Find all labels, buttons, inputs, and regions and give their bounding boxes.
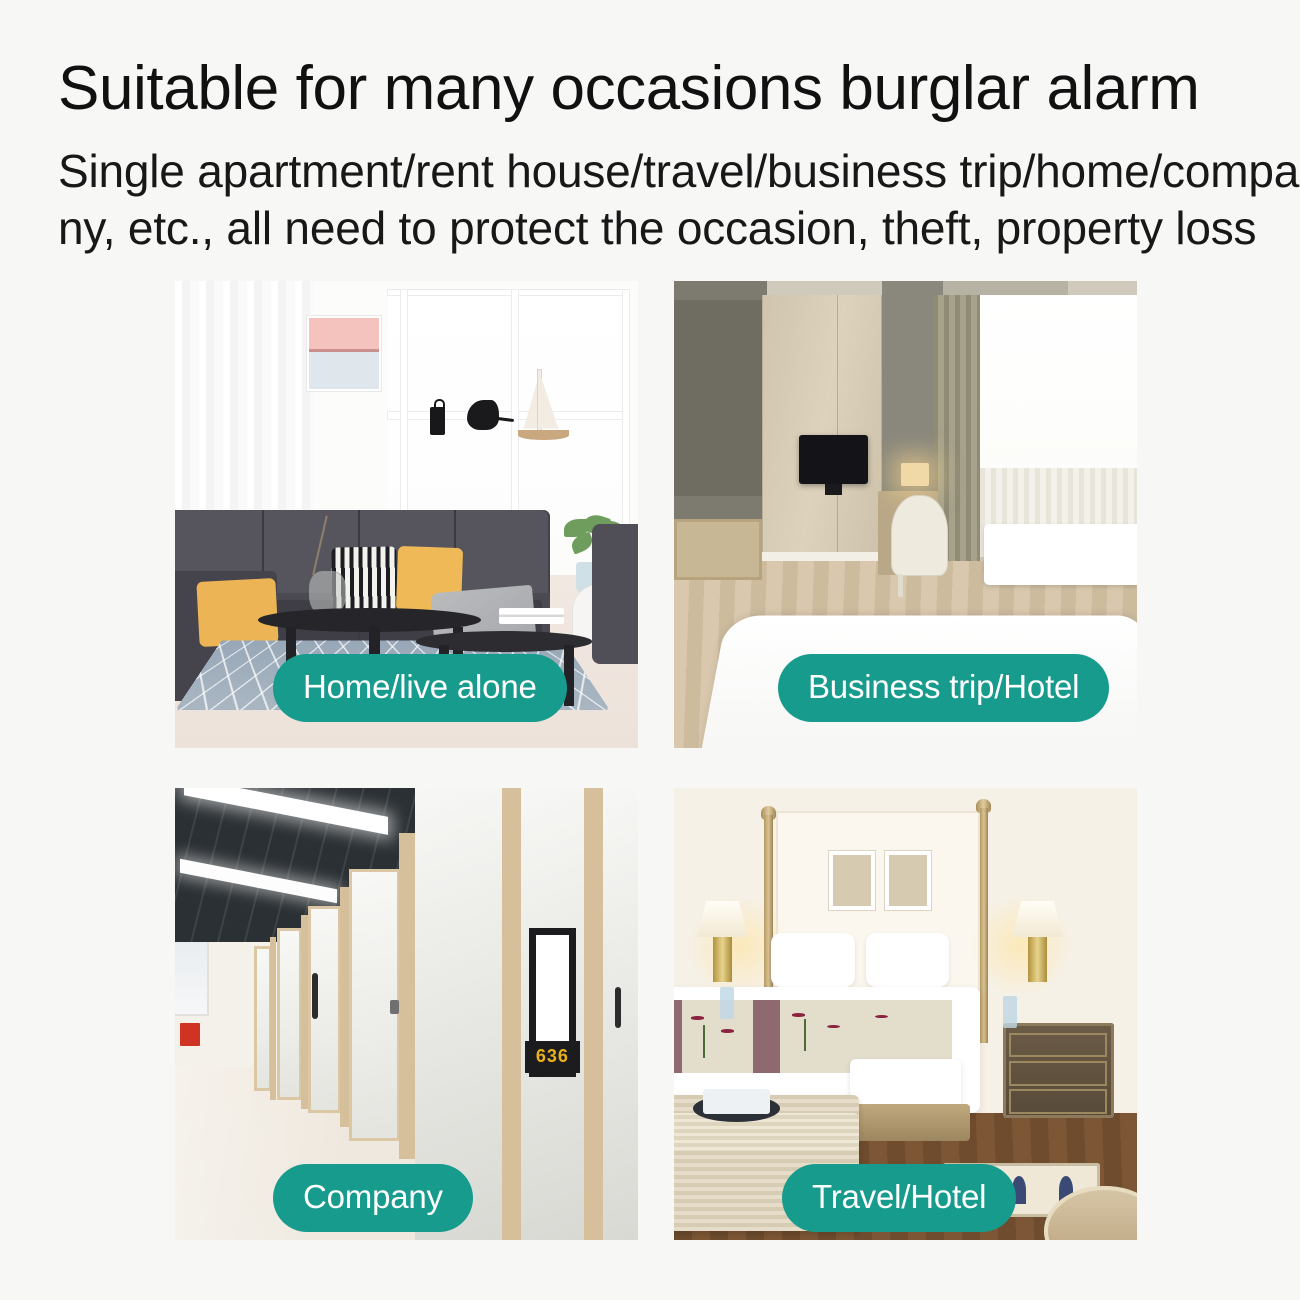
trunk-lid [674,1113,859,1149]
stacked-books [499,608,564,624]
occasion-badge-business-trip[interactable]: Business trip/Hotel [778,654,1109,722]
occasion-card-travel[interactable]: Travel/Hotel [674,788,1137,1240]
header: Suitable for many occasions burglar alar… [0,0,1300,257]
lamp-base [1028,937,1047,982]
framed-print [829,851,875,910]
pillow [866,933,949,987]
yellow-cushion [196,578,278,647]
lamp-base [713,937,732,982]
wall-niche [674,300,762,496]
fire-cabinet [180,1023,201,1046]
window-bar [401,290,407,538]
tub-chair [892,496,948,575]
pillow [771,933,854,987]
window-bar [623,290,629,538]
occasion-card-home[interactable]: Home/live alone [175,281,638,748]
subtitle-line-2: ny, etc., all need to protect the occasi… [58,200,1244,257]
bed-footboard [850,1104,970,1140]
water-bottle [1003,996,1017,1028]
corridor-door[interactable] [277,928,302,1100]
occasion-badge-company[interactable]: Company [273,1164,473,1232]
far-window [175,942,207,1014]
framed-print [885,851,931,910]
window-bar [388,290,629,295]
occasion-card-business-trip[interactable]: Business trip/Hotel [674,281,1137,748]
nightstand [1003,1023,1114,1118]
product-infographic-page: Suitable for many occasions burglar alar… [0,0,1300,1300]
room-number-sign: 636 [525,1041,581,1073]
occasion-badge-travel[interactable]: Travel/Hotel [782,1164,1016,1232]
television [799,435,868,484]
sofa-arm [592,524,638,664]
page-title: Suitable for many occasions burglar alar… [58,56,1252,121]
bedpost [980,808,989,1043]
occasion-card-company[interactable]: 636 Company [175,788,638,1240]
desk-lamp [901,463,929,486]
wall-art [307,316,381,391]
occasion-badge-home[interactable]: Home/live alone [273,654,567,722]
page-subtitle: Single apartment/rent house/travel/busin… [58,143,1252,257]
occasion-photo-grid: Home/live alone [175,281,1137,1240]
second-bed [984,524,1137,585]
wood-shelf [674,519,762,580]
window [980,295,1137,496]
lantern-decor [430,407,446,435]
sailboat-model [518,370,569,440]
subtitle-line-1: Single apartment/rent house/travel/busin… [58,143,1244,200]
water-bottle [720,987,734,1019]
bird-figurine [467,400,499,430]
